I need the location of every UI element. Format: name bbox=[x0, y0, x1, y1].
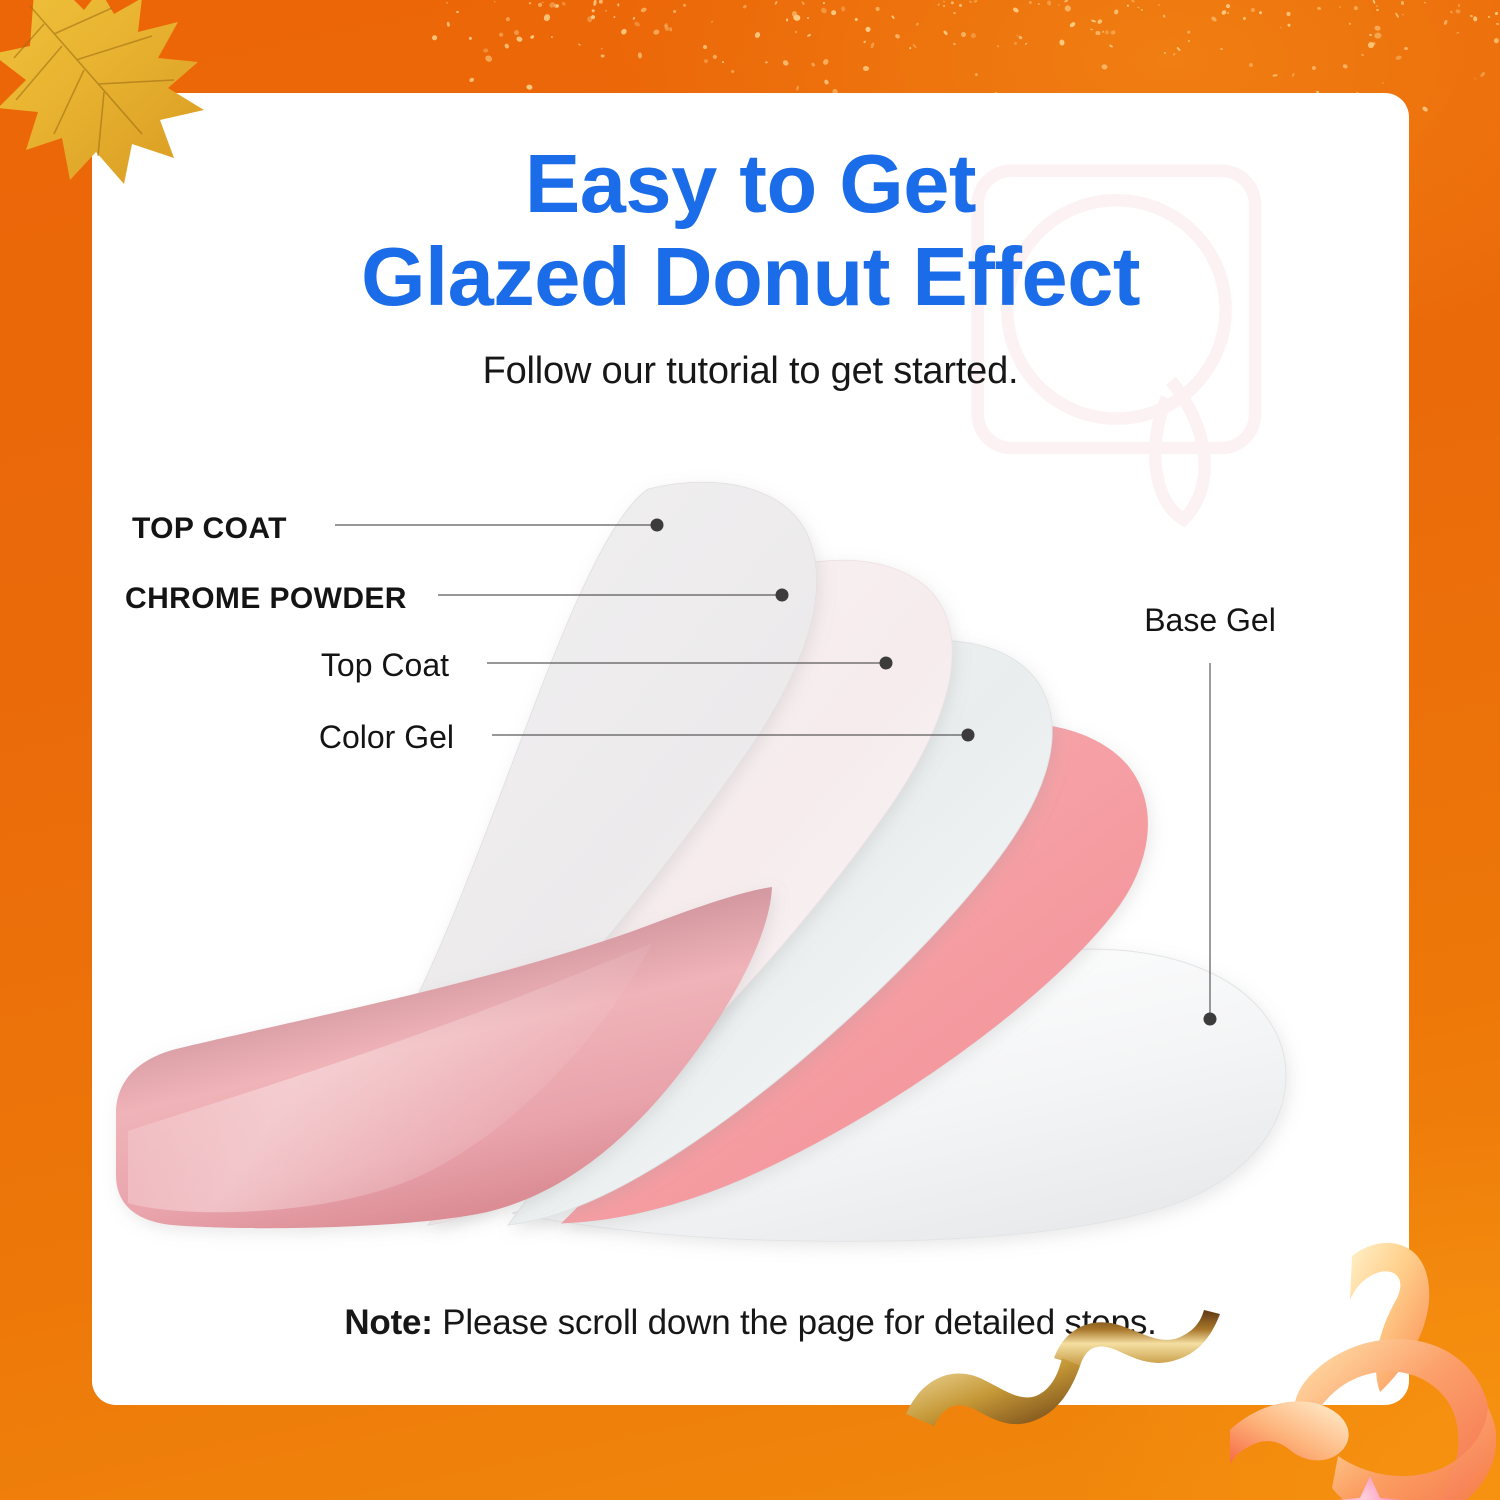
page-subtitle: Follow our tutorial to get started. bbox=[92, 350, 1409, 393]
page-title-line-2: Glazed Donut Effect bbox=[92, 231, 1409, 324]
page-title-line-1: Easy to Get bbox=[525, 137, 976, 230]
label-top-coat-bold: TOP COAT bbox=[132, 512, 287, 545]
poster-background: Easy to Get Glazed Donut Effect Follow o… bbox=[0, 0, 1500, 1500]
label-chrome-powder: CHROME POWDER bbox=[125, 582, 407, 615]
note-prefix: Note: bbox=[344, 1303, 432, 1342]
note-body: Please scroll down the page for detailed… bbox=[433, 1303, 1157, 1342]
heading-block: Easy to Get Glazed Donut Effect Follow o… bbox=[92, 138, 1409, 393]
label-color-gel: Color Gel bbox=[319, 719, 454, 755]
label-base-gel: Base Gel bbox=[1144, 602, 1276, 638]
note-text: Note: Please scroll down the page for de… bbox=[92, 1303, 1409, 1343]
content-card: Easy to Get Glazed Donut Effect Follow o… bbox=[92, 93, 1409, 1405]
label-top-coat: Top Coat bbox=[321, 647, 449, 683]
page-title: Easy to Get Glazed Donut Effect bbox=[92, 138, 1409, 324]
nail-layers-diagram: TOP COAT CHROME POWDER Top Coat Color Ge… bbox=[92, 463, 1409, 1273]
